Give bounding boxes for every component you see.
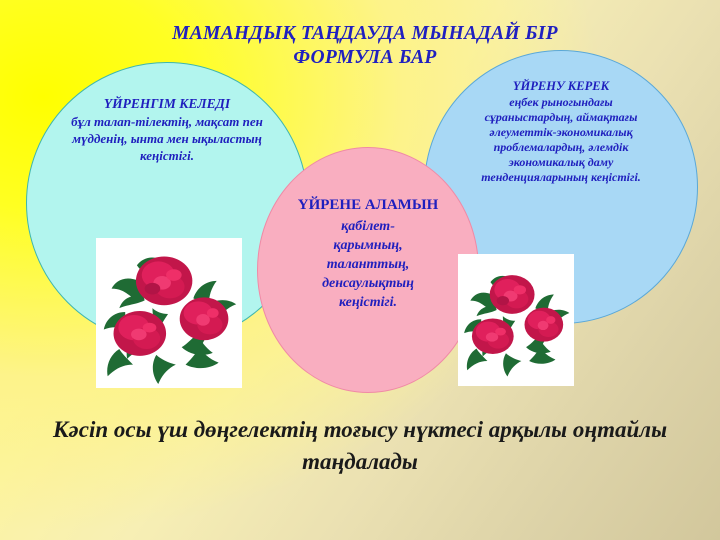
circle-right-body: еңбек рыногындағы сұраныстардың, аймақта… [467, 95, 655, 185]
circle-right-heading: ҮЙРЕНУ КЕРЕК [513, 79, 609, 94]
peony-flowers-icon [458, 254, 574, 386]
circle-left-heading: ҮЙРЕНГІМ КЕЛЕДІ [104, 95, 230, 112]
flower-image-left [96, 238, 242, 388]
circle-center-heading: ҮЙРЕНЕ АЛАМЫН [298, 196, 439, 215]
circle-center: ҮЙРЕНЕ АЛАМЫН қабілет-қарымның, талантты… [257, 147, 479, 393]
page-title: МАМАНДЫҚ ТАҢДАУДА МЫНАДАЙ БІР ФОРМУЛА БА… [120, 22, 610, 70]
flower-image-right [458, 254, 574, 386]
peony-flowers-icon [96, 238, 242, 388]
circle-center-body: қабілет-қарымның, таланттың, денсаулықты… [308, 217, 428, 312]
circle-left-body: бұл талап-тілектің, мақсат пен мүдденің,… [67, 113, 267, 164]
slide-canvas: МАМАНДЫҚ ТАҢДАУДА МЫНАДАЙ БІР ФОРМУЛА БА… [0, 0, 720, 540]
slide-caption: Кәсіп осы үш дөңгелектің тоғысу нүктесі … [24, 414, 696, 478]
